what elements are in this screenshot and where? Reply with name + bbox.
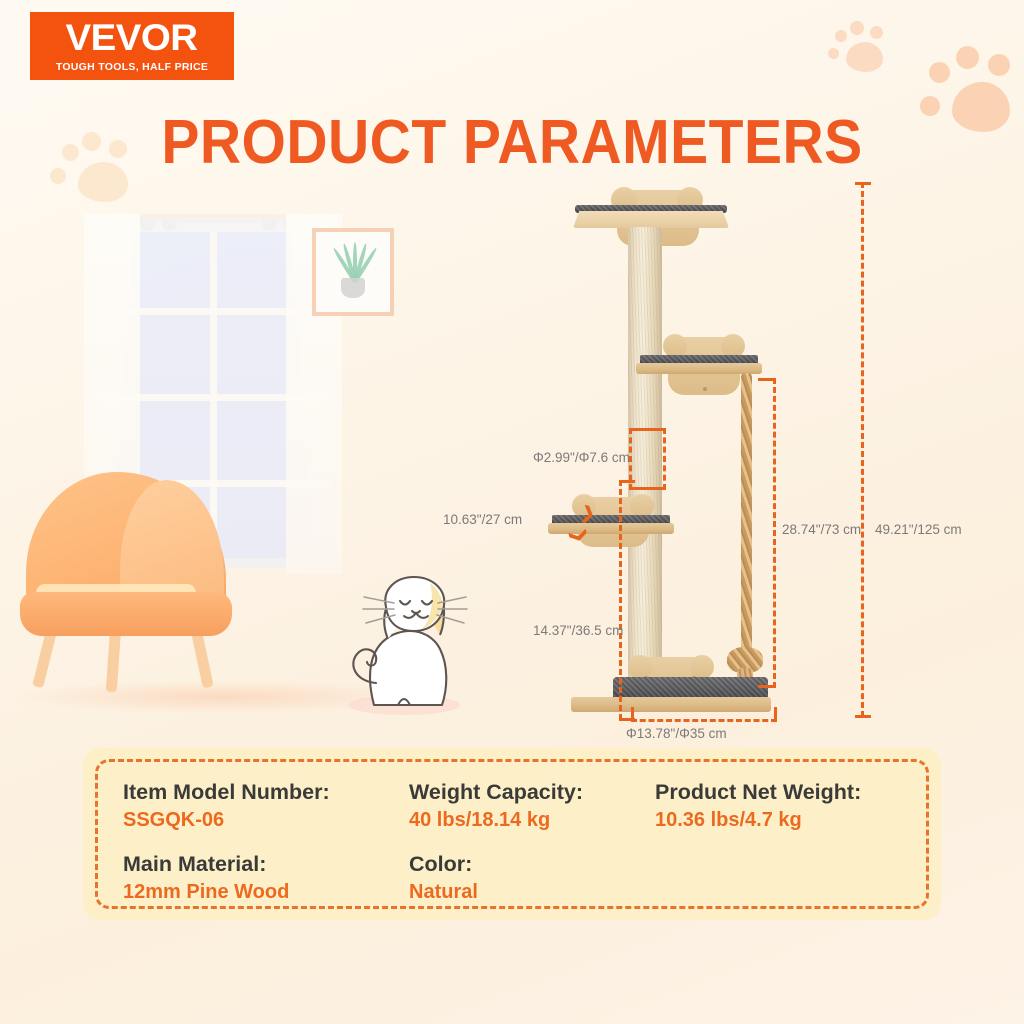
spec-item-net-weight: Product Net Weight: 10.36 lbs/4.7 kg bbox=[655, 778, 911, 850]
spec-value: 40 lbs/18.14 kg bbox=[409, 807, 655, 834]
logo-wordmark: VEVOR bbox=[66, 19, 198, 56]
spec-value: 10.36 lbs/4.7 kg bbox=[655, 807, 911, 834]
dim-rope-height-cap-bottom bbox=[758, 685, 776, 688]
spec-item-weight-capacity: Weight Capacity: 40 lbs/18.14 kg bbox=[409, 778, 655, 850]
dim-platform-width-line bbox=[619, 480, 622, 720]
dim-label-platform-depth: 10.63"/27 cm bbox=[443, 512, 522, 527]
spec-item-main-material: Main Material: 12mm Pine Wood bbox=[123, 850, 409, 906]
dim-base-diameter-cap-right bbox=[774, 707, 777, 721]
armchair-seat bbox=[20, 592, 232, 636]
spec-label: Product Net Weight: bbox=[655, 778, 911, 807]
spec-item-color: Color: Natural bbox=[409, 850, 655, 906]
dim-total-height-line bbox=[861, 182, 864, 717]
dim-label-rope-height: 28.74"/73 cm bbox=[782, 522, 861, 537]
level3-platform-board bbox=[548, 523, 674, 534]
base-platform-board bbox=[571, 697, 771, 712]
top-platform-board bbox=[573, 211, 729, 228]
dim-base-diameter-cap-left bbox=[631, 707, 634, 721]
spec-label: Weight Capacity: bbox=[409, 778, 655, 807]
logo-tagline: TOUGH TOOLS, HALF PRICE bbox=[56, 61, 208, 73]
spec-label: Main Material: bbox=[123, 850, 409, 879]
vevor-logo: VEVOR TOUGH TOOLS, HALF PRICE bbox=[30, 12, 234, 80]
dim-platform-width-cap-top bbox=[619, 480, 635, 483]
spec-value: SSGQK-06 bbox=[123, 807, 409, 834]
dim-label-post-diameter: Φ2.99"/Φ7.6 cm bbox=[533, 450, 630, 465]
spec-value: Natural bbox=[409, 879, 655, 906]
window-mullion bbox=[210, 232, 217, 562]
spec-value: 12mm Pine Wood bbox=[123, 879, 409, 906]
dim-post-diameter-cap-bottom bbox=[629, 487, 665, 490]
dim-post-diameter-cap-top bbox=[629, 428, 665, 431]
cat-illustration bbox=[330, 555, 470, 715]
dim-total-height-cap-bottom bbox=[855, 715, 871, 718]
bear-ear bbox=[628, 655, 652, 679]
specifications-grid: Item Model Number: SSGQK-06 Weight Capac… bbox=[123, 778, 911, 900]
dim-label-platform-width: 14.37"/36.5 cm bbox=[533, 623, 623, 638]
plant-pot bbox=[341, 278, 365, 298]
paw-print-icon-top-right-small bbox=[828, 18, 894, 78]
specifications-panel: Item Model Number: SSGQK-06 Weight Capac… bbox=[83, 748, 941, 920]
scratching-post-main bbox=[628, 227, 662, 712]
spec-label: Item Model Number: bbox=[123, 778, 409, 807]
spec-item-empty bbox=[655, 850, 911, 906]
dim-base-diameter-line bbox=[631, 719, 777, 722]
page-title: PRODUCT PARAMETERS bbox=[41, 112, 983, 174]
dim-rope-height-line bbox=[773, 378, 776, 688]
spec-item-model-number: Item Model Number: SSGQK-06 bbox=[123, 778, 409, 850]
screw bbox=[703, 387, 707, 391]
hanging-sisal-rope bbox=[741, 373, 752, 655]
dim-post-diameter-line-right bbox=[663, 428, 666, 490]
infographic-canvas: VEVOR TOUGH TOOLS, HALF PRICE PRODUCT PA… bbox=[0, 0, 1024, 1024]
spec-label: Color: bbox=[409, 850, 655, 879]
dim-rope-height-cap-top bbox=[758, 378, 776, 381]
framed-picture bbox=[312, 228, 394, 316]
dim-total-height-cap-top bbox=[855, 182, 871, 185]
dim-label-total-height: 49.21"/125 cm bbox=[875, 522, 962, 537]
dim-label-base-diameter: Φ13.78"/Φ35 cm bbox=[626, 726, 727, 741]
